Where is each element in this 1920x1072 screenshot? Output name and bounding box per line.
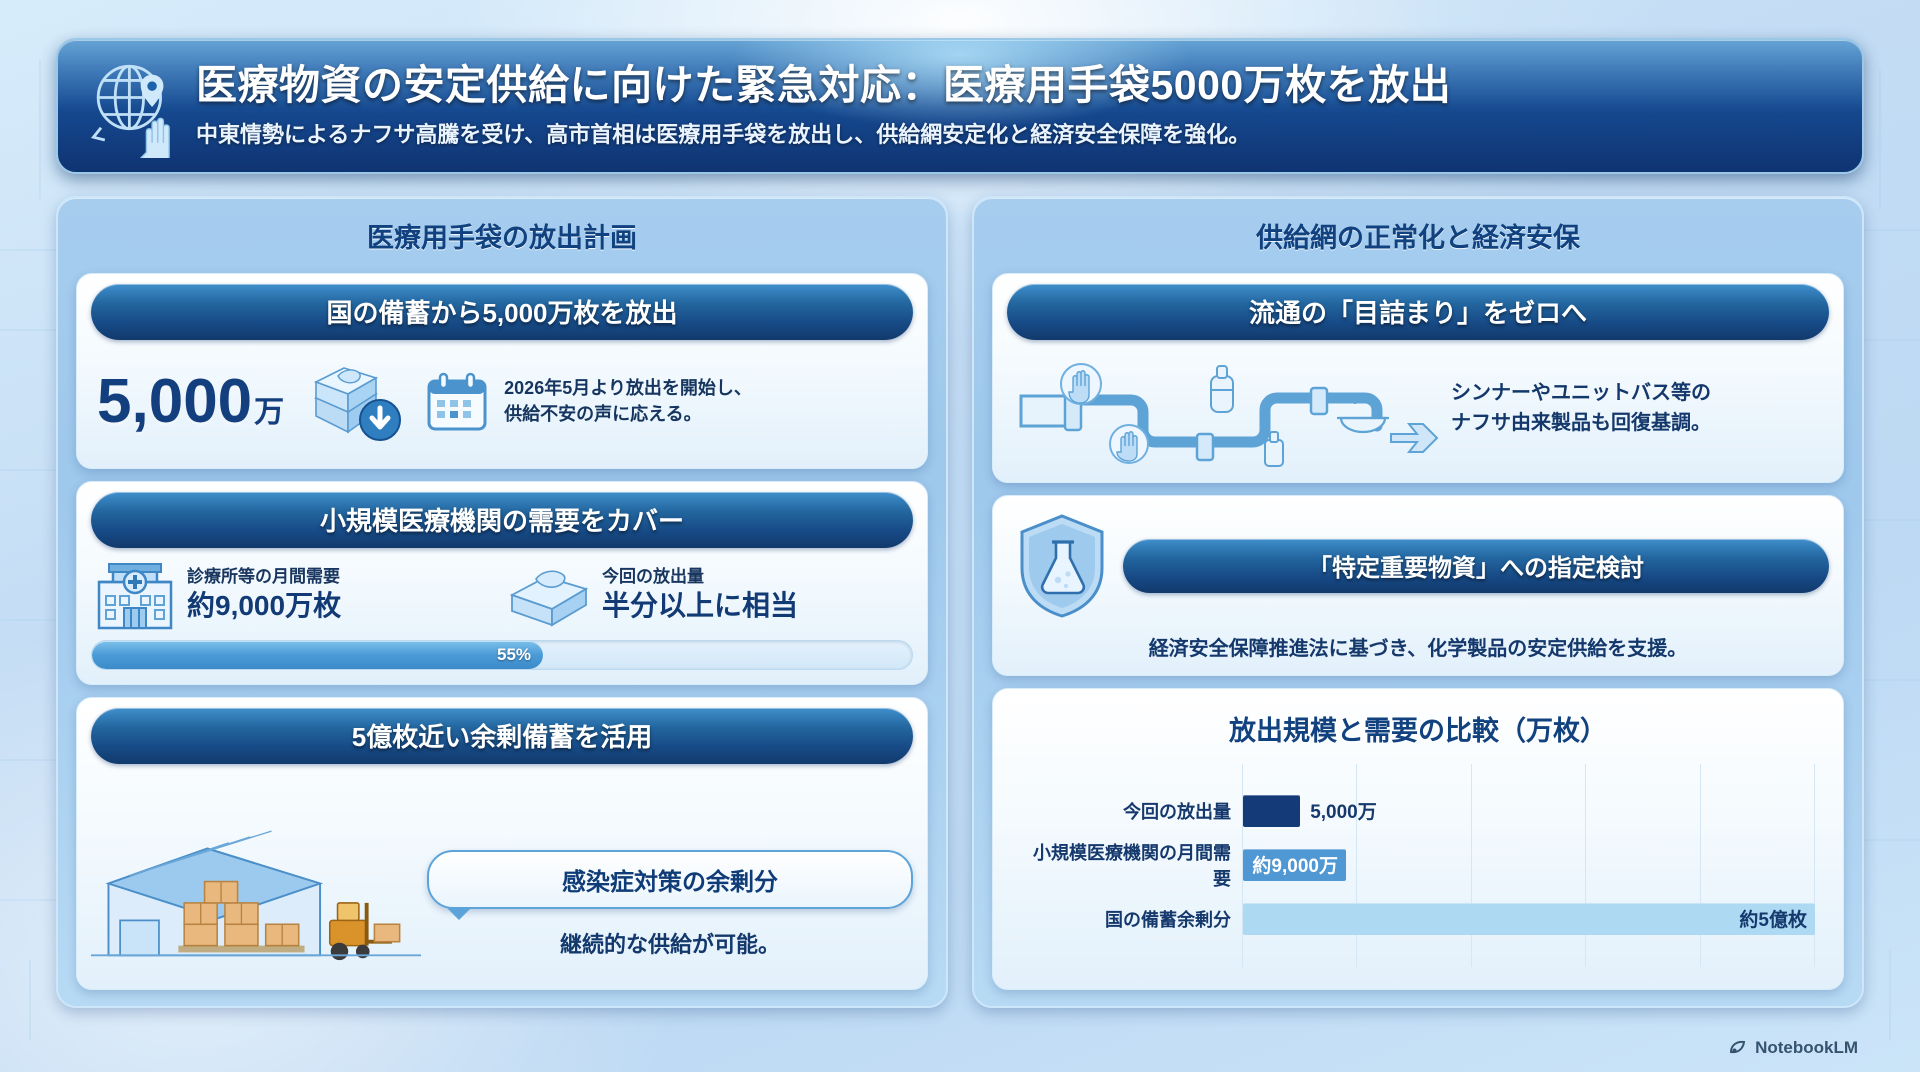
left-column-title: 医療用手袋の放出計画	[76, 212, 928, 261]
chart-row-1-value: 約9,000万	[1252, 851, 1338, 878]
card-demand-coverage-heading: 小規模医療機関の需要をカバー	[91, 492, 913, 548]
right-column-panel: 供給網の正常化と経済安保 流通の「目詰まり」をゼロへ	[972, 196, 1864, 1008]
page-subtitle: 中東情勢によるナフサ高騰を受け、高市首相は医療用手袋を放出し、供給網安定化と経済…	[196, 117, 1451, 149]
clinic-building-icon	[93, 558, 177, 632]
coverage-progress-label: 55%	[497, 641, 531, 669]
stat-release-volume: 今回の放出量 半分以上に相当	[506, 561, 911, 629]
coverage-progress-bar: 55%	[91, 640, 913, 670]
card-release-plan-heading: 国の備蓄から5,000万枚を放出	[91, 284, 913, 340]
chart-row-1-label: 小規模医療機関の月間需要	[1021, 839, 1231, 891]
globe-glove-icon	[84, 54, 188, 158]
shield-flask-icon	[1014, 510, 1110, 622]
footer-brand: NotebookLM	[1728, 1038, 1858, 1058]
stat-release-volume-label: 今回の放出量	[602, 567, 798, 587]
pipeline-flow-icon	[1011, 348, 1441, 468]
release-amount-value: 5,000万	[97, 371, 284, 433]
card-release-plan: 国の備蓄から5,000万枚を放出 5,000万	[76, 273, 928, 469]
footer-brand-label: NotebookLM	[1755, 1038, 1858, 1058]
chart-row-0: 今回の放出量 5,000万	[1021, 795, 1815, 827]
warehouse-pallets-forklift-icon	[91, 825, 421, 975]
surplus-note: 継続的な供給が可能。	[427, 927, 913, 959]
card-surplus-stock: 5億枚近い余剰備蓄を活用	[76, 697, 928, 990]
card-surplus-stock-heading: 5億枚近い余剰備蓄を活用	[91, 708, 913, 764]
glove-box-stack-download-icon	[298, 354, 410, 450]
card-critical-material: 「特定重要物資」への指定検討 経済安全保障推進法に基づき、化学製品の安定供給を支…	[992, 495, 1844, 676]
page-title: 医療物資の安定供給に向けた緊急対応：医療用手袋5000万枚を放出	[196, 63, 1451, 108]
stat-monthly-demand-label: 診療所等の月間需要	[187, 567, 341, 587]
chart-row-0-bar	[1243, 795, 1300, 827]
card-comparison-chart: 放出規模と需要の比較（万枚） 今回の放出量 5,000万 小規模医療機関の月間需…	[992, 688, 1844, 990]
chart-row-1: 小規模医療機関の月間需要 約9,000万	[1021, 839, 1815, 891]
stat-monthly-demand: 診療所等の月間需要 約9,000万枚	[93, 558, 498, 632]
chart-row-0-label: 今回の放出量	[1021, 798, 1231, 824]
release-start-note: 2026年5月より放出を開始し、 供給不安の声に応える。	[504, 376, 752, 427]
stat-monthly-demand-value: 約9,000万枚	[187, 588, 341, 623]
chart-row-2: 国の備蓄余剰分 約5億枚	[1021, 903, 1815, 935]
header-banner: 医療物資の安定供給に向けた緊急対応：医療用手袋5000万枚を放出 中東情勢による…	[56, 38, 1864, 174]
card-demand-coverage: 小規模医療機関の需要をカバー	[76, 481, 928, 685]
card-supply-normalization-heading: 流通の「目詰まり」をゼロへ	[1007, 284, 1829, 340]
chart-title: 放出規模と需要の比較（万枚）	[1007, 699, 1829, 764]
chart-row-2-value: 約5億枚	[1739, 905, 1807, 932]
chart-row-2-label: 国の備蓄余剰分	[1021, 906, 1231, 932]
surplus-bubble-text: 感染症対策の余剰分	[427, 850, 913, 909]
critical-material-note: 経済安全保障推進法に基づき、化学製品の安定供給を支援。	[1007, 632, 1829, 661]
chart-row-0-value: 5,000万	[1310, 795, 1377, 827]
calendar-icon	[424, 369, 490, 435]
chart-row-1-bar: 約9,000万	[1243, 849, 1346, 881]
right-column-title: 供給網の正常化と経済安保	[992, 212, 1844, 261]
left-column-panel: 医療用手袋の放出計画 国の備蓄から5,000万枚を放出 5,000万	[56, 196, 948, 1008]
stat-release-volume-value: 半分以上に相当	[602, 588, 798, 623]
card-critical-material-heading: 「特定重要物資」への指定検討	[1123, 539, 1829, 593]
coverage-progress-fill	[92, 641, 543, 669]
card-supply-normalization: 流通の「目詰まり」をゼロへ	[992, 273, 1844, 483]
chart-row-2-bar: 約5億枚	[1243, 903, 1815, 935]
notebooklm-icon	[1728, 1038, 1748, 1058]
supply-normalization-note: シンナーやユニットバス等の ナフサ由来製品も回復基調。	[1451, 378, 1716, 438]
chart-plot-area: 今回の放出量 5,000万 小規模医療機関の月間需要 約9,000万	[1007, 764, 1829, 975]
glove-box-icon	[506, 561, 592, 629]
